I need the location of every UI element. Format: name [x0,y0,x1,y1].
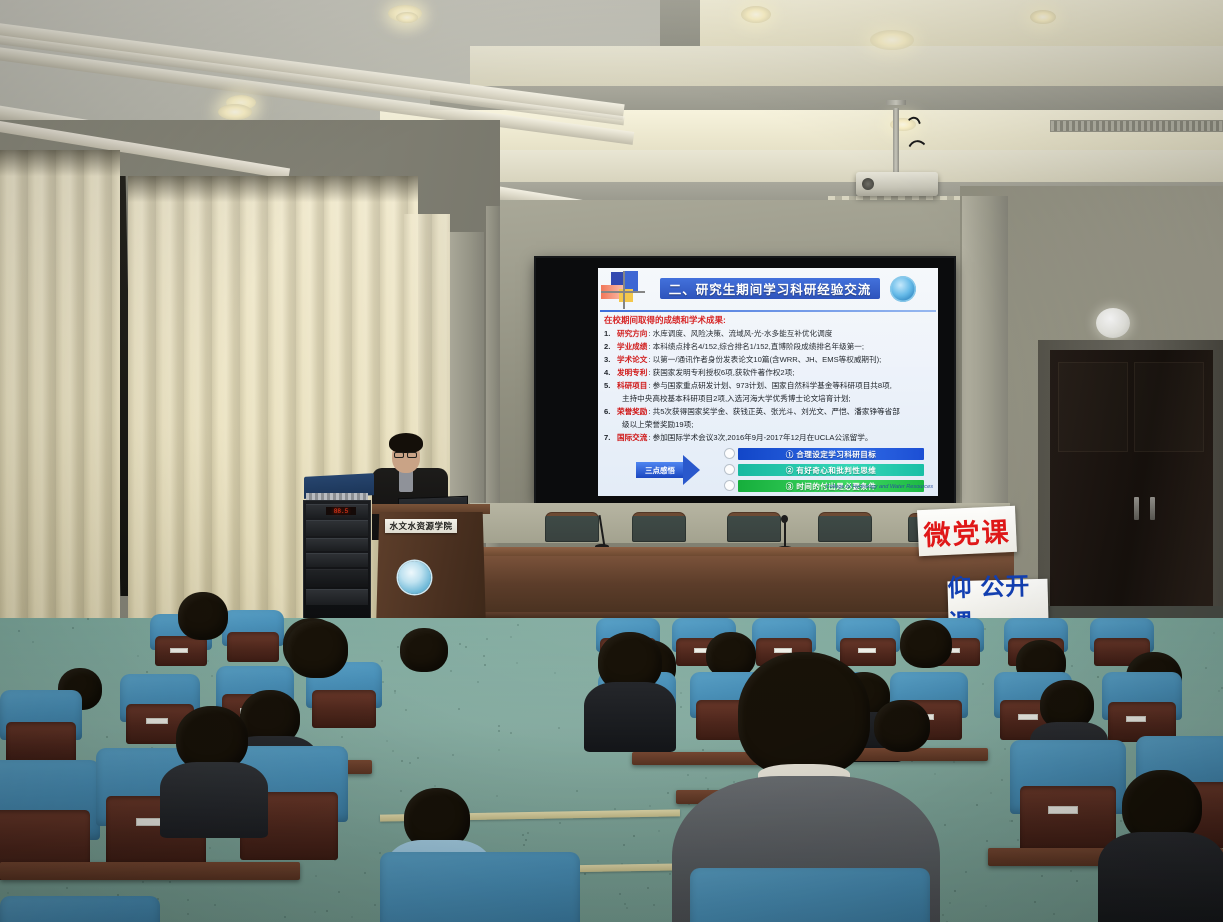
slide-divider [600,310,936,312]
floor-speck [326,910,328,912]
slide-item-5-cont: 主持中央高校基本科研项目2项,入选河海大学优秀博士论文培育计划; [622,393,851,404]
head-table-chair-1 [545,512,599,542]
audio-mixer [306,493,368,500]
slide-item-7: 7. 国际交流 : 参加国际学术会议3次,2016年9月-2017年12月在UC… [604,432,872,443]
floor-speck [527,832,529,834]
floor-speck [942,914,944,916]
downlight-5 [1030,10,1056,24]
curtain-top-shadow-2 [128,176,418,296]
floor-speck [525,839,527,841]
speaker-shirt [399,470,413,492]
floor-speck [558,727,560,729]
floor-speck [559,822,561,824]
rack-unit-4 [306,553,368,567]
rack-unit-5 [306,569,368,587]
rack-display: 88.5 [326,507,356,515]
floor-speck [458,708,460,710]
slide-item-6-key: 荣誉奖励 [617,406,647,417]
slide-item-6-cont: 级以上荣誉奖励19项; [622,419,693,430]
downlight-3 [396,12,418,23]
floor-speck [658,830,660,832]
floor-speck [394,692,396,694]
slide-item-2-key: 学业成绩 [617,341,647,352]
downlight-10 [870,30,914,50]
floor-speck [169,881,171,883]
floor-speck [382,681,384,683]
gooseneck-microphone-2-head [781,515,788,523]
floor-speck [554,672,556,674]
slide-item-5-text: : 参与国家重点研发计划、973计划、国家自然科学基金等科研项目共8项, [648,380,891,391]
slide-item-3-key: 学术论文 [617,354,647,365]
floor-speck [669,873,671,875]
floor-speck [647,887,649,889]
speaker-glasses-right [407,452,417,458]
floor-speck [450,670,452,672]
floor-speck [214,904,216,906]
slide-decoration [601,271,647,309]
slide-item-1: 1. 研究方向 : 水库调度、风险决策、流域风-光-水多能互补优化调度 [604,328,832,339]
floor-speck [1053,913,1055,915]
hohai-university-emblem-icon [890,276,916,302]
floor-speck [584,873,586,875]
floor-speck [510,732,512,734]
floor-speck [315,875,317,877]
floor-speck [510,636,512,638]
floor-speck [401,760,403,762]
floor-speck [386,740,388,742]
floor-speck [990,792,992,794]
floor-speck [705,777,707,779]
floor-speck [351,916,353,918]
slide-item-3-text: : 以第一/通讯作者身份发表论文10篇(含WRR、JH、EMS等权威期刊); [648,354,881,365]
rack-unit-2 [306,520,368,536]
floor-speck [498,749,500,751]
floor-speck [364,872,366,874]
floor-speck [392,750,394,752]
slide-item-5-key: 科研项目 [617,380,647,391]
takeaway-2: ② 有好奇心和批判性思维 [738,464,924,476]
floor-speck [314,911,316,913]
slide-item-2-num: 2. [604,342,617,351]
floor-speck [626,907,628,909]
floor-speck [517,624,519,626]
slide-item-1-text: : 水库调度、风险决策、流域风-光-水多能互补优化调度 [648,328,832,339]
floor-speck [702,749,704,751]
floor-speck [1071,665,1073,667]
floor-speck [523,844,525,846]
takeaway-bullet-3 [724,480,735,491]
three-takeaways-arrow: 三点感悟 [636,455,706,485]
floor-speck [341,736,343,738]
floor-speck [496,795,498,797]
floor-speck [653,904,655,906]
slide-item-7-num: 7. [604,433,617,442]
head-table-chair-3 [727,512,781,542]
floor-speck [985,905,987,907]
floor-speck [649,805,651,807]
floor-speck [633,835,635,837]
speaker-hair [389,433,423,453]
floor-speck [624,903,626,905]
slide-item-5-num: 5. [604,381,617,390]
floor-speck [1221,687,1223,689]
floor-speck [982,683,984,685]
podium-emblem-icon [398,561,431,594]
floor-speck [680,706,682,708]
floor-speck [498,725,500,727]
projection-screen: 二、研究生期间学习科研经验交流 在校期间取得的成绩和学术成果: 1. 研究方向 … [598,268,938,496]
speaker-glasses-left [394,452,404,458]
floor-speck [459,643,461,645]
floor-speck [619,893,621,895]
floor-speck [1205,667,1207,669]
slide-item-4-num: 4. [604,368,617,377]
floor-speck [954,890,956,892]
floor-speck [986,840,988,842]
rack-unit-3 [306,538,368,551]
floor-speck [623,844,625,846]
arrow-label: 三点感悟 [636,462,684,478]
slide-item-7-key: 国际交流 [617,432,647,443]
floor-speck [452,754,454,756]
slide-item-4: 4. 发明专利 : 获国家发明专利授权6项,获软件著作权2项; [604,367,794,378]
head-table-front [468,556,1014,618]
door-handle-right[interactable] [1150,497,1155,520]
floor-speck [106,736,108,738]
floor-speck [397,646,399,648]
floor-speck [944,824,946,826]
slide-item-4-key: 发明专利 [617,367,647,378]
floor-speck [1011,820,1013,822]
slide-heading: 在校期间取得的成绩和学术成果: [604,314,726,326]
projector-ceiling-plate [886,100,906,105]
slide-item-2: 2. 学业成绩 : 本科绩点排名4/152,综合排名1/152,直博阶段成绩排名… [604,341,864,352]
slide-item-6-num: 6. [604,407,617,416]
door-panel-upper-right [1134,362,1204,452]
arrow-head-icon [683,455,700,485]
slide-item-6-text: : 共5次获得国家奖学金、获钱正英、张光斗、刘光文、严恺、潘家铮等省部 [648,406,899,417]
floor-speck [187,899,189,901]
slide-item-6: 6. 荣誉奖励 : 共5次获得国家奖学金、获钱正英、张光斗、刘光文、严恺、潘家铮… [604,406,900,417]
lecture-hall-photo: 二、研究生期间学习科研经验交流 在校期间取得的成绩和学术成果: 1. 研究方向 … [0,0,1223,922]
floor-speck [18,630,20,632]
floor-speck [72,627,74,629]
takeaway-bullet-1 [724,448,735,459]
door-handle-left[interactable] [1134,497,1139,520]
floor-speck [32,641,34,643]
floor-speck [1001,779,1003,781]
floor-speck [1034,901,1036,903]
floor-speck [484,664,486,666]
floor-speck [338,891,340,893]
floor-speck [984,628,986,630]
head-table-chair-4 [818,512,872,542]
floor-speck [486,638,488,640]
floor-speck [209,847,211,849]
floor-speck [1097,676,1099,678]
slide-title: 二、研究生期间学习科研经验交流 [660,278,880,299]
floor-speck [400,790,402,792]
floor-speck [66,887,68,889]
floor-speck [379,852,381,854]
floor-speck [522,834,524,836]
floor-speck [409,762,411,764]
floor-speck [137,655,139,657]
micro-party-lesson-sign: 微党课 [917,506,1017,556]
floor-speck [1041,875,1043,877]
floor-speck [417,757,419,759]
slide-item-5: 5. 科研项目 : 参与国家重点研发计划、973计划、国家自然科学基金等科研项目… [604,380,892,391]
podium-nameplate: 水文水资源学院 [385,519,457,533]
floor-speck [477,681,479,683]
floor-speck [949,902,951,904]
takeaway-bullet-2 [724,464,735,475]
slide-item-3-num: 3. [604,355,617,364]
floor-speck [1120,820,1122,822]
slide-item-7-text: : 参加国际学术会议3次,2016年9月-2017年12月在UCLA公派留学。 [648,432,872,443]
floor-speck [934,773,936,775]
wall-light-fixture [1096,308,1130,338]
floor-speck [680,692,682,694]
floor-speck [1004,748,1006,750]
floor-speck [284,916,286,918]
floor-speck [87,618,89,620]
floor-speck [498,730,500,732]
takeaway-1: ① 合理设定学习科研目标 [738,448,924,460]
floor-speck [211,675,213,677]
rack-unit-6 [306,589,368,605]
head-table-chair-2 [632,512,686,542]
front-desk-left [0,862,300,880]
slide-footer: College of Hydrology and Water Resources [826,484,933,490]
slide-item-3: 3. 学术论文 : 以第一/通讯作者身份发表论文10篇(含WRR、JH、EMS等… [604,354,881,365]
floor-speck [1076,880,1078,882]
floor-speck [576,790,578,792]
floor-speck [465,646,467,648]
floor-speck [516,662,518,664]
ceiling-air-vent [1050,120,1223,132]
slide-item-1-num: 1. [604,329,617,338]
slide-item-2-text: : 本科绩点排名4/152,综合排名1/152,直博阶段成绩排名年级第一; [648,341,864,352]
floor-speck [381,660,383,662]
floor-speck [374,904,376,906]
floor-speck [1070,870,1072,872]
floor-speck [187,913,189,915]
downlight-4 [741,6,771,23]
curtain-top-shadow-1 [0,150,120,270]
ceiling-panel-a [470,46,1223,88]
floor-speck [1017,839,1019,841]
floor-speck [7,892,9,894]
floor-speck [1218,690,1220,692]
floor-speck [657,860,659,862]
downlight-6 [218,104,252,120]
floor-speck [405,709,407,711]
slide-item-1-key: 研究方向 [617,328,647,339]
projector-lens [862,178,874,190]
floor-speck [483,655,485,657]
floor-speck [965,871,967,873]
floor-speck [953,761,955,763]
floor-speck [142,881,144,883]
door-panel-upper-left [1058,362,1128,452]
floor-speck [687,774,689,776]
floor-speck [976,804,978,806]
floor-speck [1213,632,1215,634]
ceiling-recess-a [700,0,1223,48]
floor-speck [667,792,669,794]
slide-item-4-text: : 获国家发明专利授权6项,获软件著作权2项; [648,367,794,378]
